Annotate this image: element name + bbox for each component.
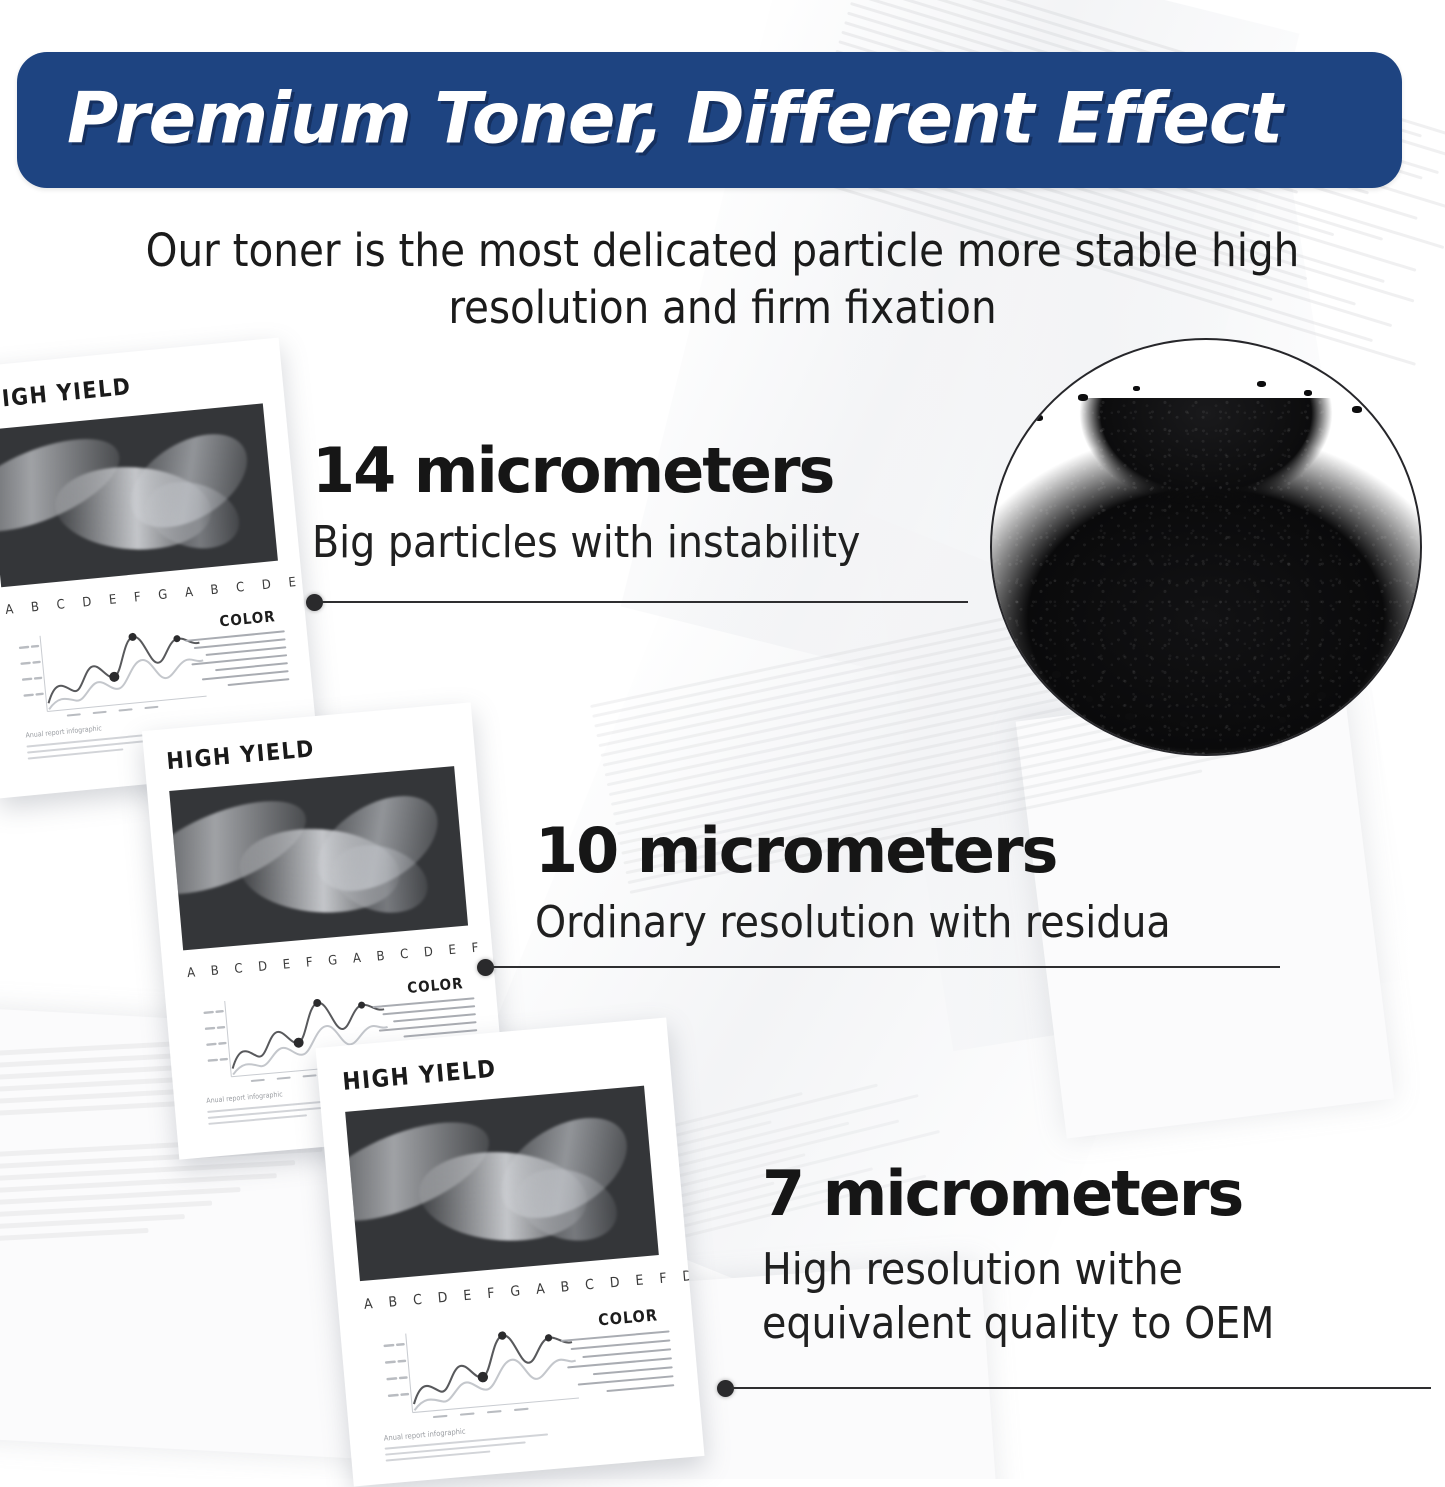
printed-sheet-3: HIGH YIELD A B C D E F G A B C D E F D G bbox=[315, 1017, 704, 1486]
callout-1-title: 14 micrometers bbox=[312, 440, 860, 502]
sheet-3-heading: HIGH YIELD bbox=[341, 1055, 497, 1096]
connector-line-3 bbox=[731, 1387, 1431, 1389]
sheet-2-heading: HIGH YIELD bbox=[166, 736, 316, 775]
page-title: Premium Toner, Different Effect bbox=[67, 77, 1282, 159]
sheet-3-chart-caption: Anual report infographic bbox=[383, 1427, 466, 1443]
sheet-1-color-heading: COLOR bbox=[219, 607, 277, 630]
callout-1-subtitle-line-1: Big particles with instability bbox=[312, 516, 860, 570]
sheet-3-chart-svg bbox=[372, 1314, 590, 1428]
sheet-2-color-heading: COLOR bbox=[407, 974, 465, 997]
connector-line-2 bbox=[491, 966, 1280, 968]
callout-3: 7 micrometers High resolution withe equi… bbox=[762, 1163, 1274, 1351]
subtitle-line-1: Our toner is the most delicated particle… bbox=[0, 222, 1445, 279]
callout-3-subtitle-line-2: equivalent quality to OEM bbox=[762, 1297, 1274, 1351]
sheet-3-color-heading: COLOR bbox=[597, 1305, 658, 1329]
callout-1-subtitle: Big particles with instability bbox=[312, 516, 860, 570]
callout-1: 14 micrometers Big particles with instab… bbox=[312, 440, 860, 570]
sheet-3-photo bbox=[345, 1086, 659, 1281]
subtitle: Our toner is the most delicated particle… bbox=[0, 222, 1445, 336]
sheet-2-photo bbox=[169, 766, 468, 950]
callout-2: 10 micrometers Ordinary resolution with … bbox=[535, 820, 1171, 950]
callout-2-subtitle-line-1: Ordinary resolution with residua bbox=[535, 896, 1171, 950]
callout-3-subtitle: High resolution withe equivalent quality… bbox=[762, 1243, 1274, 1351]
toner-grain-texture bbox=[992, 340, 1420, 754]
callout-3-title: 7 micrometers bbox=[762, 1163, 1274, 1225]
sheet-1-chart-caption: Anual report infographic bbox=[25, 724, 102, 739]
sheet-1-chart bbox=[14, 616, 212, 726]
sheet-2-chart-caption: Anual report infographic bbox=[206, 1090, 283, 1105]
sheet-1-chart-svg bbox=[14, 616, 212, 726]
sheet-1-photo bbox=[0, 403, 278, 587]
subtitle-line-2: resolution and firm fixation bbox=[0, 279, 1445, 336]
sheet-3-color-body bbox=[556, 1330, 674, 1396]
header-banner: Premium Toner, Different Effect bbox=[17, 52, 1402, 188]
sheet-3-chart bbox=[372, 1314, 590, 1428]
callout-2-subtitle: Ordinary resolution with residua bbox=[535, 896, 1171, 950]
toner-powder-sample bbox=[990, 338, 1422, 756]
sheet-1-color-body bbox=[181, 630, 289, 690]
sheet-1-heading: HIGH YIELD bbox=[0, 374, 133, 414]
callout-3-subtitle-line-1: High resolution withe bbox=[762, 1243, 1274, 1297]
callout-2-title: 10 micrometers bbox=[535, 820, 1171, 882]
connector-line-1 bbox=[320, 601, 968, 603]
